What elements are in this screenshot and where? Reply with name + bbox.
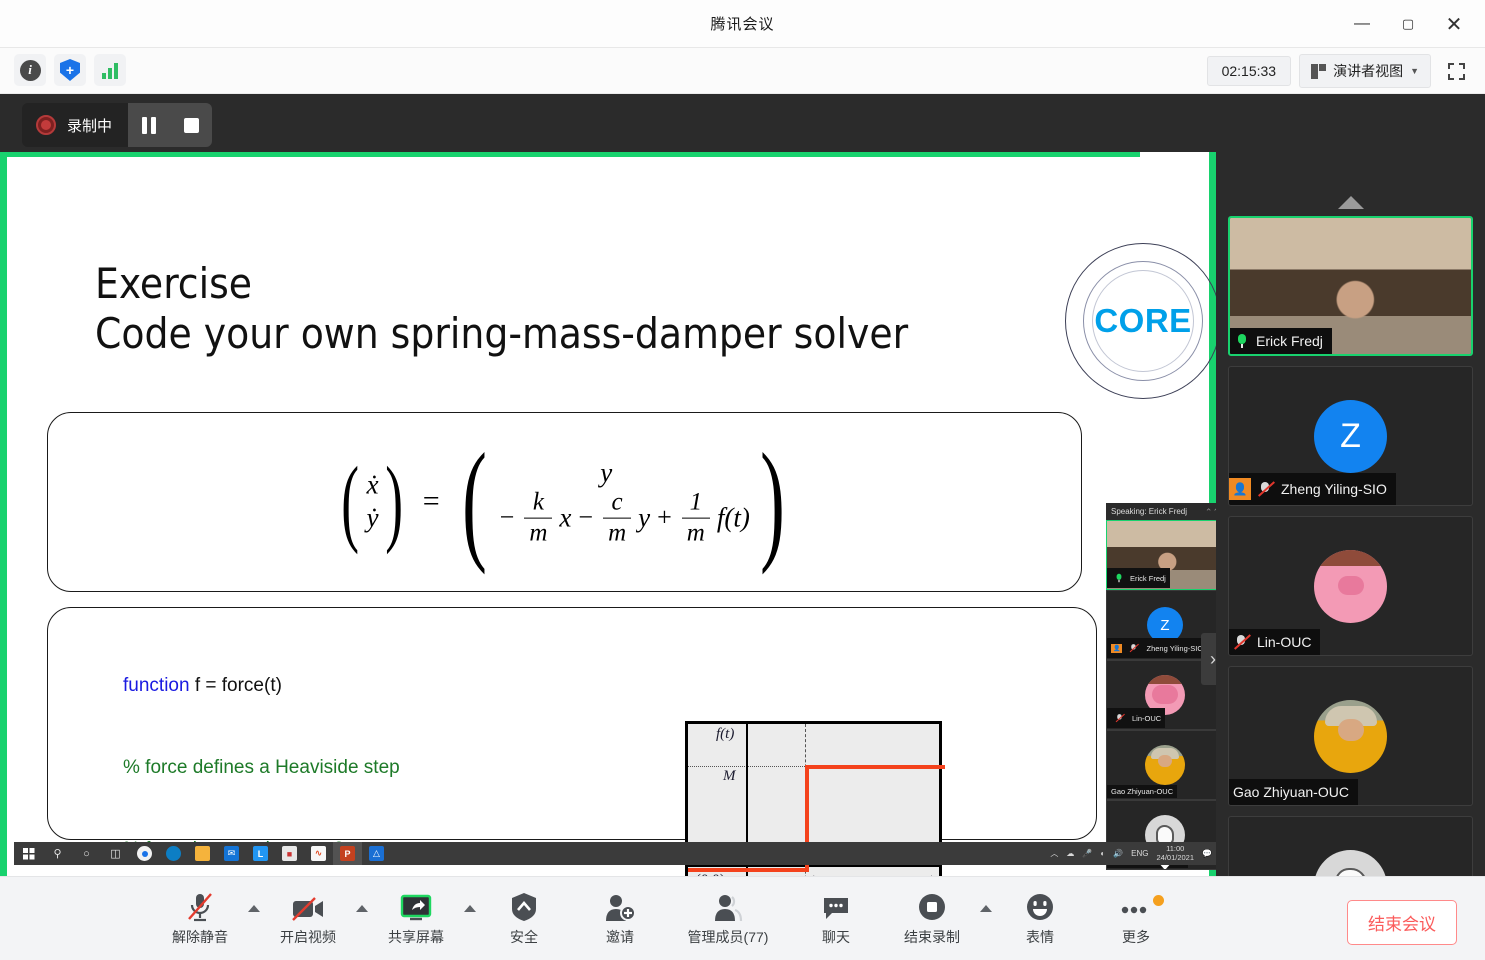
mic-on-icon [1234,333,1250,349]
mic-off-icon [1257,481,1275,497]
participant-tile-gao[interactable]: Gao Zhiyuan-OUC [1228,666,1473,806]
stop-recording-button[interactable]: 结束录制 [884,877,980,960]
meeting-timer: 02:15:33 [1207,56,1292,86]
lhs-vector: ẋ ẏ [366,468,378,536]
lhs-open-paren: ( [341,461,359,543]
nested-speaking-header: Speaking: Erick Fredj ⌃⌃ [1106,503,1224,520]
button-label: 解除静音 [172,927,228,947]
participant-name: Lin-OUC [1257,634,1311,650]
nested-name-label: Lin-OUC [1132,714,1161,723]
participant-name-bar: Lin-OUC [1229,629,1320,655]
stop-record-icon [917,892,947,922]
meeting-stage: 录制中 Exercise Code your own spring-mass-d… [0,94,1485,876]
mic-off-icon [1115,714,1125,723]
button-label: 表情 [1026,927,1054,947]
maximize-button[interactable]: ▢ [1385,4,1431,44]
button-label: 开启视频 [280,927,336,947]
rhs-row1: y [600,458,646,489]
shield-plus-icon: + [60,59,80,81]
nested-tile-gao[interactable]: Gao Zhiyuan-OUC [1106,730,1224,800]
share-options-caret[interactable] [464,905,476,912]
figure-level-label: M [723,768,736,785]
slide-title-line1: Exercise [95,259,908,309]
host-badge-icon: 👤 [1111,644,1122,653]
more-dots-icon [1119,892,1153,922]
nested-meeting-panel: Speaking: Erick Fredj ⌃⌃ Erick Fredj Z [1106,503,1224,870]
state-space-equation: ( ẋ ẏ ) = ( y − k [48,445,1081,560]
meeting-controls-bar: 解除静音 开启视频 [0,876,1485,960]
invite-button[interactable]: 邀请 [572,877,668,960]
chevron-up-icon [1338,196,1364,209]
emoji-smile-icon [1025,892,1055,922]
step-curve-high [805,765,945,769]
minimize-button[interactable]: — [1339,4,1385,44]
tencent-meeting-window: 腾讯会议 — ▢ ✕ i + 02:15:33 演讲者视图 [0,0,1485,960]
volume-icon[interactable]: 🔊 [1113,849,1123,858]
more-notification-badge [1153,895,1164,906]
notification-icon[interactable]: 💬 [1202,849,1212,858]
mic-options-caret[interactable] [248,905,260,912]
invite-person-icon [604,892,636,922]
fraction-k-over-m: k m [524,490,552,547]
encryption-button[interactable]: + [54,54,86,86]
mic-off-icon [1130,644,1140,653]
cloud-icon[interactable]: ☁ [1066,849,1074,858]
filmstrip-scroll-up[interactable] [1216,188,1485,216]
minus-1: − [500,503,515,533]
record-options-caret[interactable] [980,905,992,912]
page-title: Exercise Code your own spring-mass-dampe… [95,259,908,358]
equation-box: ( ẋ ẏ ) = ( y − k [47,412,1082,592]
var-x: x [559,503,571,534]
slide-title-line2: Code your own spring-mass-damper solver [95,309,908,359]
chevron-down-icon: ▼ [1410,66,1419,76]
meeting-icon[interactable]: △ [362,842,391,865]
lhs-xdot: ẋ [366,468,378,502]
rhs-open-paren: ( [462,445,487,560]
meeting-info-button[interactable]: i [14,54,46,86]
toolbar-left-icons: i + [14,54,126,86]
nested-speaking-label: Speaking: Erick Fredj [1111,507,1187,516]
button-label: 管理成员(77) [688,927,769,947]
participant-name-bar: Erick Fredj [1230,328,1332,354]
participant-tile-lin[interactable]: Lin-OUC [1228,516,1473,656]
button-label: 共享屏幕 [388,927,444,947]
var-y: y [638,503,650,534]
nested-tile-name: Lin-OUC [1107,708,1165,728]
nested-name-label: Gao Zhiyuan-OUC [1111,787,1173,796]
avatar: Z [1314,400,1387,473]
toolbar-right-group: 02:15:33 演讲者视图 ▼ [1207,54,1473,88]
numerator-k: k [528,490,549,516]
lhs-close-paren: ) [386,461,404,543]
fraction-bar [524,517,552,519]
denominator-m: m [603,521,631,547]
chrome-icon[interactable] [130,842,159,865]
tray-date: 24/01/2021 [1156,854,1194,863]
fraction-bar [682,517,710,519]
plus-sign: + [657,503,672,533]
share-screen-button[interactable]: 共享屏幕 [368,877,464,960]
participant-filmstrip: Erick Fredj Z 👤 Zheng Yiling-SIO Lin-OUC [1216,188,1485,960]
signal-bars-icon [102,62,118,79]
view-mode-dropdown[interactable]: 演讲者视图 ▼ [1299,54,1431,88]
video-off-icon [291,892,325,922]
rhs-close-paren: ) [760,445,785,560]
close-button[interactable]: ✕ [1431,4,1477,44]
app-title: 腾讯会议 [710,13,774,34]
wifi-icon[interactable]: ◐ [1100,849,1105,858]
kid-face [1158,755,1172,767]
participant-name-bar: Gao Zhiyuan-OUC [1229,779,1358,805]
avatar [1314,700,1387,773]
rhs-vector: y − k m x − c [497,458,750,547]
share-screen-icon [399,892,433,922]
windows-taskbar: ⚲ ○ ◫ ✉ L ■ ∿ P △ ︿ ☁ 🎤 ◐ [14,842,1216,865]
nested-tile-name: 👤 Zheng Yiling-SIO [1107,638,1207,658]
meeting-toolbar: i + 02:15:33 演讲者视图 ▼ [0,48,1485,94]
start-video-button[interactable]: 开启视频 [260,877,356,960]
manage-participants-button[interactable]: 管理成员(77) [668,877,788,960]
numerator-one: 1 [685,490,708,516]
video-options-caret[interactable] [356,905,368,912]
lhs-ydot: ẏ [366,502,378,536]
fraction-bar [603,517,631,519]
cortana-icon[interactable]: ○ [72,842,101,865]
info-icon: i [20,60,41,81]
matlab-icon[interactable]: ∿ [304,842,333,865]
pig-hair [1314,550,1387,566]
control-buttons: 解除静音 开启视频 [152,877,1184,960]
mic-on-icon [1114,573,1124,583]
denominator-m: m [682,521,710,547]
end-meeting-button[interactable]: 结束会议 [1347,900,1457,945]
chat-bubble-icon [821,892,851,922]
nested-tile-erick[interactable]: Erick Fredj [1106,520,1224,590]
store-icon[interactable]: ■ [275,842,304,865]
powerpoint-slide: Exercise Code your own spring-mass-dampe… [7,157,1209,865]
button-label: 更多 [1122,927,1150,947]
nested-tile-name: Gao Zhiyuan-OUC [1107,785,1177,798]
button-label: 安全 [510,927,538,947]
force-function: f(t) [717,503,750,534]
windows-start-icon[interactable] [14,842,43,865]
recording-label: 录制中 [67,115,112,136]
figure-ylabel: f(t) [716,726,734,743]
core-logo: CORE [1065,243,1221,399]
shield-icon [510,892,538,922]
code-comment-1: % force defines a Heaviside step [123,754,400,781]
share-border-left [0,152,7,876]
view-mode-label: 演讲者视图 [1333,61,1403,81]
window-controls: — ▢ ✕ [1339,0,1477,48]
pause-recording-button[interactable] [128,103,170,147]
chat-button[interactable]: 聊天 [788,877,884,960]
participant-tile-erick[interactable]: Erick Fredj [1228,216,1473,356]
title-bar: 腾讯会议 — ▢ ✕ [0,0,1485,48]
stop-recording-button[interactable] [170,103,212,147]
recording-status: 录制中 [22,103,128,147]
equals-sign: = [423,485,440,519]
powerpoint-icon[interactable]: P [333,842,362,865]
button-label: 结束录制 [904,927,960,947]
fraction-c-over-m: c m [603,490,631,547]
pause-icon [142,117,156,134]
denominator-m: m [524,521,552,547]
network-status-button[interactable] [94,54,126,86]
logo-text: CORE [1065,243,1221,399]
stop-icon [184,118,199,133]
recording-controls [128,103,212,147]
file-explorer-icon[interactable] [188,842,217,865]
tray-language[interactable]: ENG [1131,849,1148,858]
emoji-button[interactable]: 表情 [992,877,1088,960]
tray-chevron-icon[interactable]: ︿ [1050,848,1058,859]
task-view-icon[interactable]: ◫ [101,842,130,865]
nested-name-label: Erick Fredj [1130,574,1166,583]
nested-tile-name: Erick Fredj [1107,568,1170,588]
mic-off-icon [1233,634,1251,650]
search-icon[interactable]: ⚲ [43,842,72,865]
code-box: function f = force(t) % force defines a … [47,607,1097,840]
rhs-row2: − k m x − c [497,490,750,547]
code-keyword-function: function [123,675,195,696]
button-label: 邀请 [606,927,634,947]
kid-face [1338,719,1364,741]
pig-hair [1145,675,1185,684]
avatar [1314,550,1387,623]
unmute-button[interactable]: 解除静音 [152,877,248,960]
record-dot-icon [36,115,56,135]
participants-icon [712,892,744,922]
nested-avatar-kid [1145,745,1185,785]
participant-name: Gao Zhiyuan-OUC [1233,784,1349,800]
participant-tile-zheng[interactable]: Z 👤 Zheng Yiling-SIO [1228,366,1473,506]
more-button[interactable]: 更多 [1088,877,1184,960]
fullscreen-button[interactable] [1439,55,1473,87]
tray-clock[interactable]: 11:00 24/01/2021 [1156,845,1194,862]
mail-icon[interactable]: ✉ [217,842,246,865]
fraction-1-over-m: 1 m [682,490,710,547]
participant-name: Zheng Yiling-SIO [1281,481,1387,497]
numerator-c: c [607,490,628,516]
speaker-view-icon [1311,64,1326,79]
minus-2: − [578,503,593,533]
security-button[interactable]: 安全 [476,877,572,960]
participant-name-bar: 👤 Zheng Yiling-SIO [1229,473,1396,505]
participant-name: Erick Fredj [1256,333,1323,349]
code-line-0-rest: f = force(t) [195,675,282,696]
x-axis [688,865,939,867]
edge-icon[interactable] [159,842,188,865]
nested-name-label: Zheng Yiling-SIO [1146,644,1203,653]
latex-icon[interactable]: L [246,842,275,865]
host-badge-icon: 👤 [1229,478,1251,500]
mic-muted-icon [186,892,214,922]
system-tray: ︿ ☁ 🎤 ◐ 🔊 ENG 11:00 24/01/2021 💬 [1050,845,1212,862]
fullscreen-icon [1448,63,1465,80]
shared-screen-area[interactable]: Exercise Code your own spring-mass-dampe… [0,152,1216,876]
mic-icon[interactable]: 🎤 [1082,849,1092,858]
button-label: 聊天 [822,927,850,947]
recording-indicator: 录制中 [22,103,212,147]
